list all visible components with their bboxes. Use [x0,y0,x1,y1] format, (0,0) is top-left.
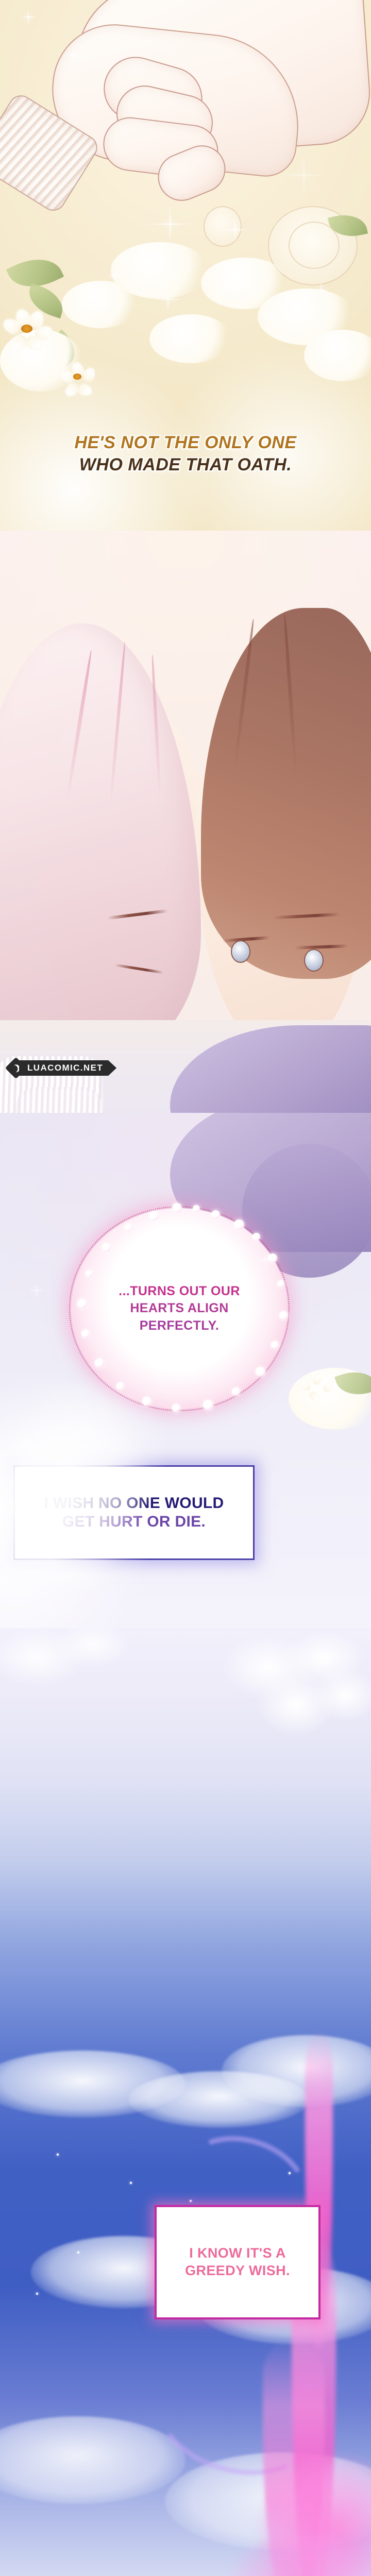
pearl-bead [77,1299,87,1309]
pearl-bead [232,1387,240,1396]
pearl-bead [252,1233,260,1241]
foliage-silhouette [0,1628,139,1731]
man-left-iris [231,940,250,963]
pearl-bead [172,1404,180,1412]
leaf-decoration [24,283,68,319]
pearl-bead [193,1205,200,1212]
pearl-bead [203,1400,213,1410]
sparkle-icon [149,204,191,245]
flower-bloom [304,330,371,381]
bubble-line-3: PERFECTLY. [119,1317,240,1335]
star-dot [77,2251,79,2253]
pearl-bead [234,1219,244,1230]
hands-pinky-promise-panel: HE'S NOT THE ONLY ONE WHO MADE THAT OATH… [0,0,371,531]
star-dot [57,2154,59,2156]
pearl-bead [95,1359,104,1368]
sparkle-icon [175,314,191,330]
sparkle-icon [260,301,287,328]
oath-line-2: WHO MADE THAT OATH. [0,454,371,476]
pearl-bead [116,1382,124,1390]
sparkle-icon [155,286,181,313]
pearl-bead [125,1224,132,1231]
site-watermark: LUACOMIC.NET [8,1060,116,1076]
sparkle-icon [21,9,36,25]
wish-caption-box: I WISH NO ONE WOULD GET HURT OR DIE. [13,1465,255,1560]
pearl-bead [277,1280,284,1287]
cloud [0,2416,185,2504]
foliage-silhouette [222,1633,371,1788]
star-dot [130,2182,132,2184]
pearl-speech-bubble: ...TURNS OUT OUR HEARTS ALIGN PERFECTLY. [71,1208,288,1409]
pearl-bead [256,1367,265,1377]
sparkle-icon [258,1252,273,1267]
pearl-bead [149,1211,159,1221]
pearl-bead [172,1203,182,1213]
pearl-bead [211,1210,220,1219]
greedy-wish-caption-box: I KNOW IT'S A GREEDY WISH. [155,2205,321,2319]
wish-line-1: I WISH NO ONE WOULD [44,1494,224,1513]
webtoon-page: HE'S NOT THE ONLY ONE WHO MADE THAT OATH… [0,0,371,2576]
pearl-bubble-text: ...TURNS OUT OUR HEARTS ALIGN PERFECTLY. [101,1283,258,1335]
man-right-iris [304,949,324,972]
sparkle-icon [313,282,329,298]
crescent-moon-icon [12,1064,20,1072]
flower-bloom [62,281,139,328]
pearl-bead [142,1397,151,1406]
sparkle-icon [66,47,81,63]
sparkle-icon [29,1283,44,1298]
bubble-line-1: ...TURNS OUT OUR [119,1283,240,1300]
pearl-bead [102,1243,111,1252]
blue-sky-magic-panel: I KNOW IT'S A GREEDY WISH. [0,1628,371,2576]
greedy-line-1: I KNOW IT'S A [189,2245,286,2262]
wish-line-2: GET HURT OR DIE. [62,1513,206,1531]
pearl-bead [86,1270,93,1277]
pearl-bead [271,1341,279,1349]
flower-bloom [149,314,232,363]
pearl-bead [81,1330,90,1338]
oath-line-1: HE'S NOT THE ONLY ONE [0,432,371,454]
greedy-line-2: GREEDY WISH. [185,2262,290,2280]
pearl-bubble-panel: ...TURNS OUT OUR HEARTS ALIGN PERFECTLY.… [0,1113,371,1628]
pearl-bead [279,1311,288,1320]
sparkle-icon [283,155,325,196]
woman-pink-hair [0,623,201,1066]
watermark-label: LUACOMIC.NET [19,1060,116,1076]
sparkle-icon [107,268,123,283]
sparkle-icon [222,216,248,243]
bubble-line-2: HEARTS ALIGN [119,1300,240,1317]
star-dot [36,2293,38,2295]
oath-narration: HE'S NOT THE ONLY ONE WHO MADE THAT OATH… [0,432,371,476]
